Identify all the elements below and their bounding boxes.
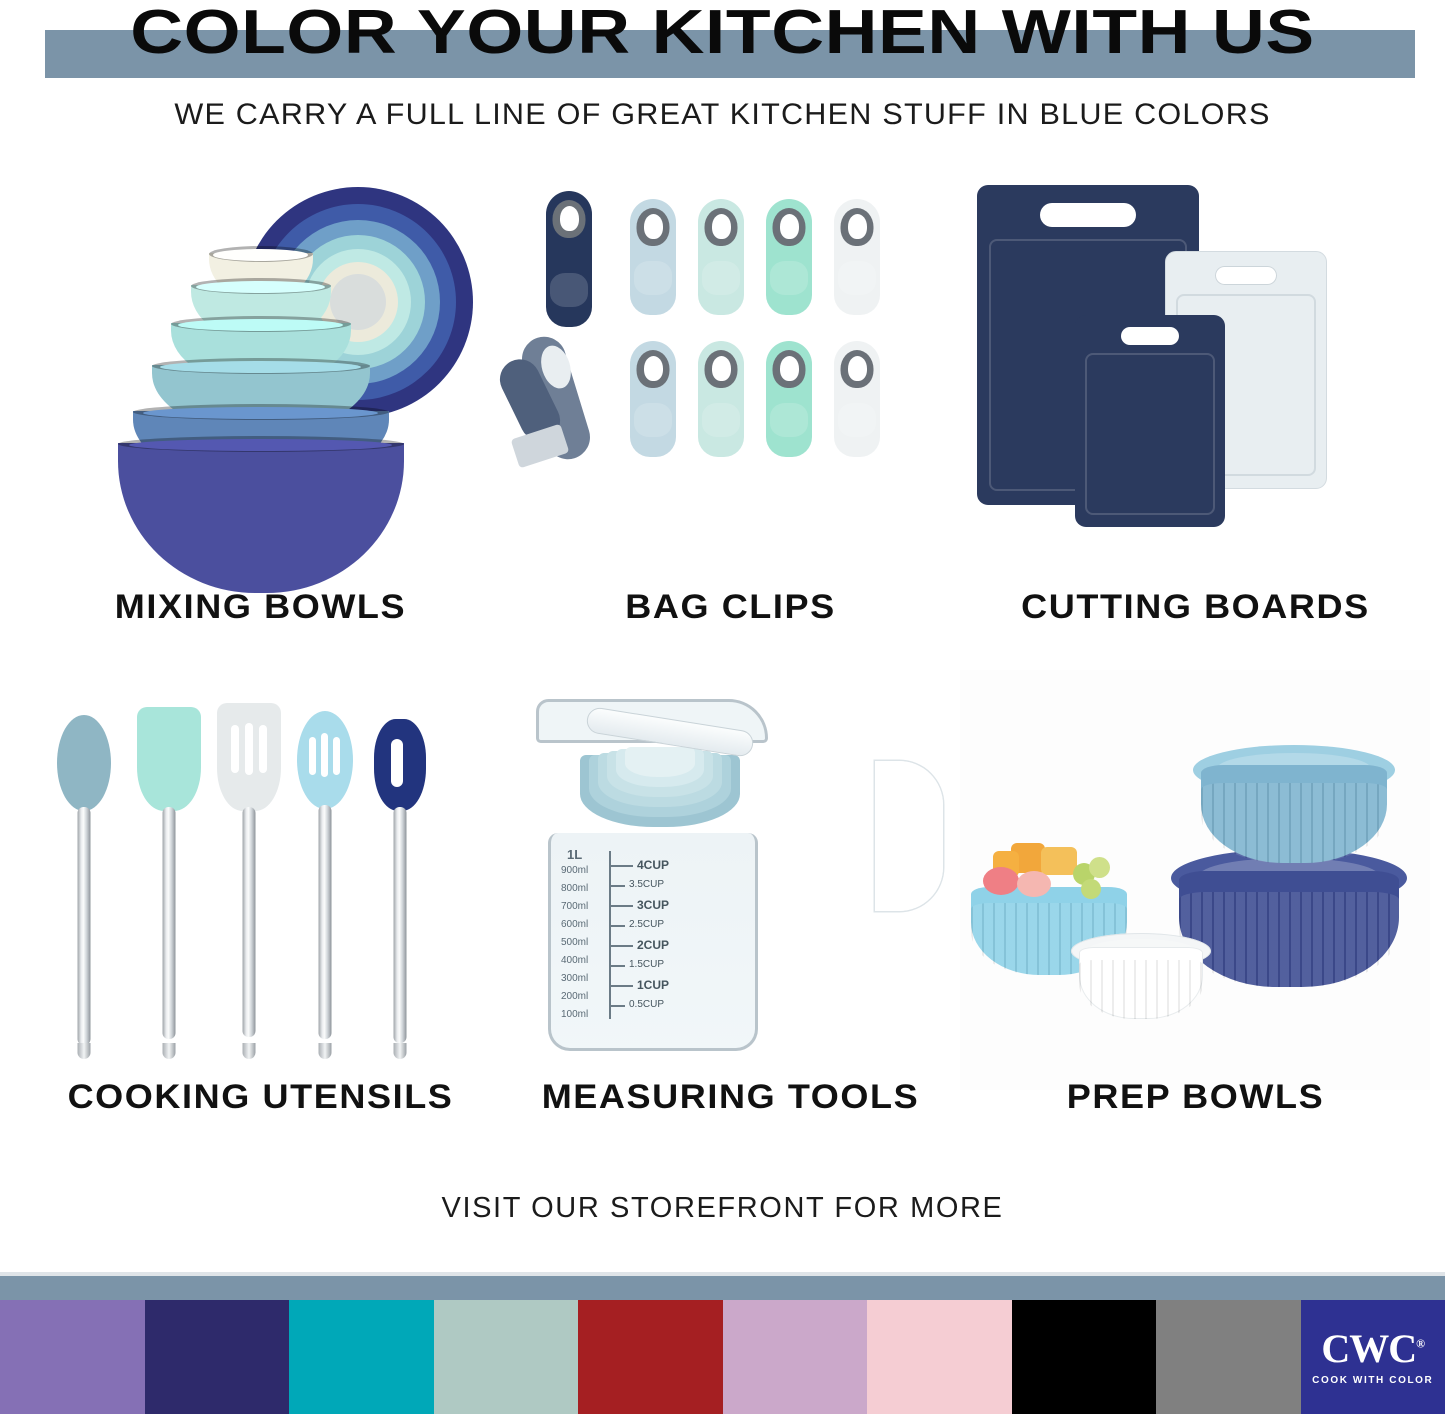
slotted-spoon-slot-1 (309, 737, 316, 775)
scale-cup-1: 1CUP (637, 978, 669, 992)
swatch-red (578, 1300, 723, 1414)
registered-trademark-icon: ® (1416, 1336, 1424, 1350)
scale-ml-900: 900ml (561, 865, 588, 876)
scale-ml-200: 200ml (561, 991, 588, 1002)
product-label-cutting-boards: CUTTING BOARDS (941, 588, 1445, 627)
utensil-slotted-spoon (296, 711, 354, 1055)
slotted-spoon-slot-3 (333, 737, 340, 775)
scale-cup-2: 2CUP (637, 938, 669, 952)
bag-clip-3 (766, 199, 812, 315)
bag-clip-8 (834, 341, 880, 457)
product-label-prep-bowls: PREP BOWLS (941, 1078, 1445, 1117)
bag-clip-2 (698, 199, 744, 315)
bag-clips-illustration (490, 175, 971, 575)
bowl-1-large (118, 443, 404, 593)
bag-clip-7 (766, 341, 812, 457)
prep-bowls-illustration (955, 665, 1436, 1065)
product-cell-bag-clips[interactable]: BAG CLIPS (490, 175, 971, 645)
scale-cup-4: 4CUP (637, 858, 669, 872)
scale-cup-2-5: 2.5CUP (629, 919, 664, 930)
cooking-utensils-illustration (20, 665, 501, 1065)
utensil-spatula (136, 707, 202, 1055)
page-title: COLOR YOUR KITCHEN WITH US (0, 0, 1445, 66)
swatch-black (1012, 1300, 1157, 1414)
utensil-spoon (56, 715, 112, 1055)
product-label-bag-clips: BAG CLIPS (476, 588, 986, 627)
cutting-board-medium-navy (1075, 315, 1225, 527)
brand-logo-letters: CWC (1321, 1326, 1416, 1371)
footer-accent-band (0, 1276, 1445, 1302)
fruit-grape-2 (1089, 857, 1110, 878)
swatch-navy-indigo (145, 1300, 290, 1414)
turner-slot-2 (245, 723, 253, 775)
scale-ml-500: 500ml (561, 937, 588, 948)
color-swatch-strip: CWC® COOK WITH COLOR (0, 1300, 1445, 1414)
scale-ml-600: 600ml (561, 919, 588, 930)
storefront-cta-text: VISIT OUR STOREFRONT FOR MORE (0, 1192, 1445, 1225)
turner-slot-1 (231, 725, 239, 773)
bag-clip-6 (698, 341, 744, 457)
product-cell-measuring-tools[interactable]: 1L 900ml 800ml 700ml 600ml 500ml 400ml 3… (490, 665, 971, 1135)
prep-bowl-light-blue (1201, 765, 1387, 863)
bag-clip-4 (834, 199, 880, 315)
scale-cup-1-5: 1.5CUP (629, 959, 664, 970)
product-label-cooking-utensils: COOKING UTENSILS (6, 1078, 516, 1117)
product-grid: MIXING BOWLS BAG CLIP (0, 175, 1445, 1175)
bag-clip-navy (546, 191, 592, 327)
swatch-sage (434, 1300, 579, 1414)
measuring-cup-body: 1L 900ml 800ml 700ml 600ml 500ml 400ml 3… (548, 833, 758, 1051)
brand-logo-mark: CWC® (1321, 1329, 1424, 1369)
product-label-mixing-bowls: MIXING BOWLS (6, 588, 516, 627)
scale-cup-3: 3CUP (637, 898, 669, 912)
swatch-gray (1156, 1300, 1301, 1414)
measuring-spoon-6 (625, 747, 695, 777)
bag-clip-1 (630, 199, 676, 315)
page-subtitle: WE CARRY A FULL LINE OF GREAT KITCHEN ST… (0, 98, 1445, 132)
swatch-mauve (723, 1300, 868, 1414)
fruit-mango-2 (1041, 847, 1077, 875)
scale-ml-800: 800ml (561, 883, 588, 894)
product-cell-cooking-utensils[interactable]: COOKING UTENSILS (20, 665, 501, 1135)
utensil-pasta-server (372, 719, 428, 1055)
fruit-grape-3 (1081, 879, 1101, 899)
scale-ml-700: 700ml (561, 901, 588, 912)
swatch-teal (289, 1300, 434, 1414)
brand-tagline: COOK WITH COLOR (1312, 1375, 1433, 1386)
scale-ml-100: 100ml (561, 1009, 588, 1020)
mixing-bowls-illustration (20, 175, 501, 575)
measuring-tools-illustration: 1L 900ml 800ml 700ml 600ml 500ml 400ml 3… (490, 665, 971, 1065)
product-cell-mixing-bowls[interactable]: MIXING BOWLS (20, 175, 501, 645)
fruit-grapefruit-2 (1017, 871, 1051, 897)
prep-bowl-white (1079, 947, 1203, 1019)
utensil-slotted-turner (216, 703, 282, 1055)
scale-cup-0-5: 0.5CUP (629, 999, 664, 1010)
product-label-measuring-tools: MEASURING TOOLS (476, 1078, 986, 1117)
bag-clip-5 (630, 341, 676, 457)
scale-cup-3-5: 3.5CUP (629, 879, 664, 890)
product-cell-cutting-boards[interactable]: CUTTING BOARDS (955, 175, 1436, 645)
scale-ml-1l: 1L (567, 847, 582, 862)
measuring-cup-handle (875, 761, 943, 911)
scale-ml-300: 300ml (561, 973, 588, 984)
prep-bowl-navy (1179, 871, 1399, 987)
swatch-purple (0, 1300, 145, 1414)
turner-slot-3 (259, 725, 267, 773)
fruit-grapefruit-1 (983, 867, 1019, 895)
infographic-poster: COLOR YOUR KITCHEN WITH US WE CARRY A FU… (0, 0, 1445, 1414)
slotted-spoon-slot-2 (321, 733, 328, 777)
product-cell-prep-bowls[interactable]: PREP BOWLS (955, 665, 1436, 1135)
cutting-boards-illustration (955, 175, 1436, 575)
swatch-blush-pink (867, 1300, 1012, 1414)
pasta-server-center-slot (391, 739, 403, 787)
scale-ml-400: 400ml (561, 955, 588, 966)
fruit-pile (977, 841, 1123, 901)
bag-clip-open-side-view (508, 335, 604, 473)
brand-logo: CWC® COOK WITH COLOR (1301, 1300, 1445, 1414)
